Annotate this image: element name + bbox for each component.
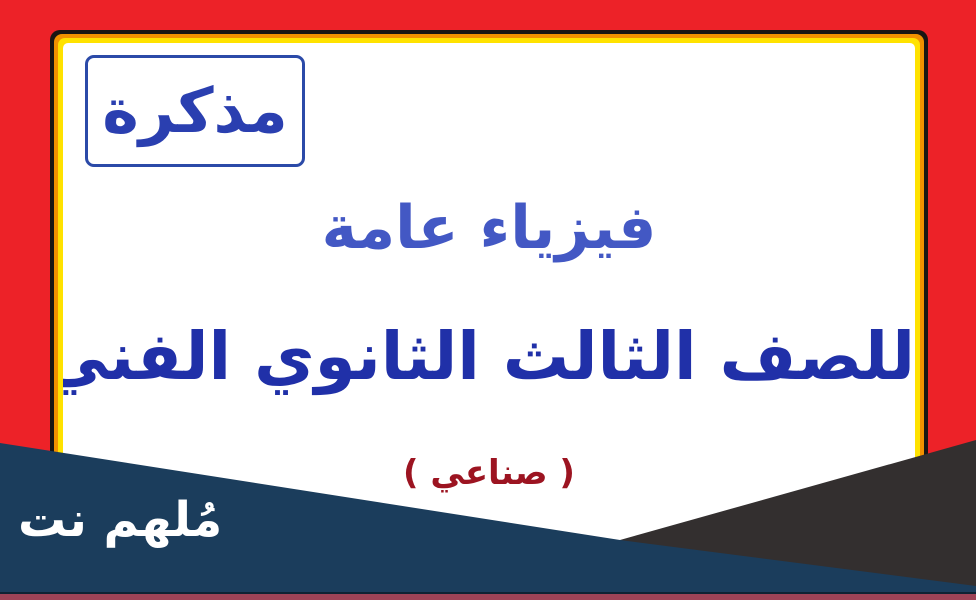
frame-border-outer: مذكرة فيزياء عامة للصف الثالث الثانوي ال… [50,30,928,582]
poster-canvas: مذكرة فيزياء عامة للصف الثالث الثانوي ال… [0,0,976,600]
memo-badge: مذكرة [85,55,305,167]
page-sheet: مذكرة فيزياء عامة للصف الثالث الثانوي ال… [63,43,915,582]
frame-border-orange: مذكرة فيزياء عامة للصف الثالث الثانوي ال… [54,34,924,582]
frame-border-yellow: مذكرة فيزياء عامة للصف الثالث الثانوي ال… [58,38,920,582]
page-content: مذكرة فيزياء عامة للصف الثالث الثانوي ال… [63,43,915,582]
memo-badge-label: مذكرة [102,80,287,142]
subject-title: فيزياء عامة [63,193,915,263]
grade-line: للصف الثالث الثانوي الفني [63,318,915,395]
track-line: ( صناعي ) [63,453,915,493]
